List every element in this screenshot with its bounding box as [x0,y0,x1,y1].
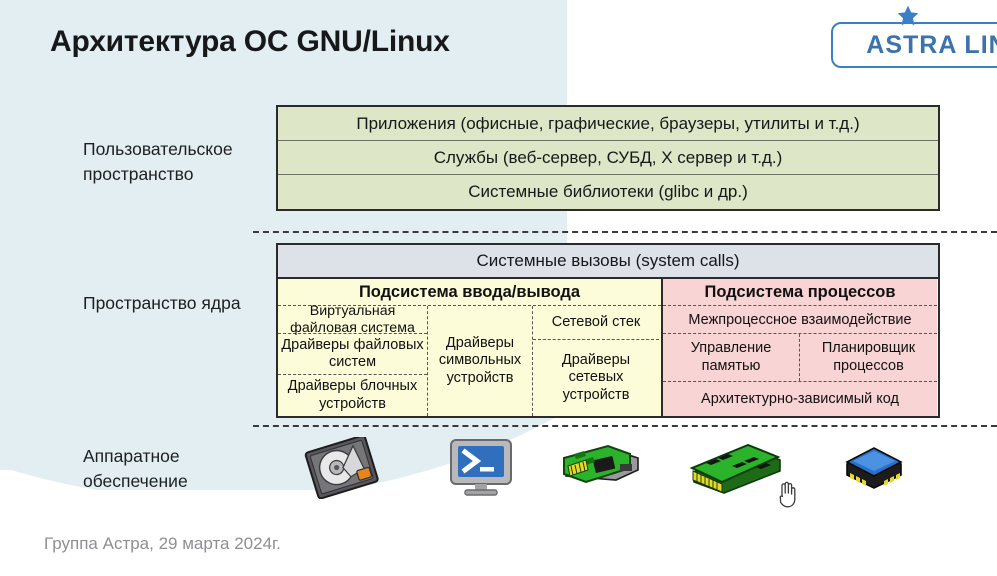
page-title: Архитектура ОС GNU/Linux [50,25,450,59]
io-cell-network-stack: Сетевой стек [533,306,659,340]
io-cell-fs-drivers: Драйверы файловых систем [278,334,427,375]
divider-userspace-kernelspace [253,231,997,233]
label-userspace: Пользовательское пространство [83,137,273,187]
background-left-strip [0,0,170,470]
process-cell-ipc: Межпроцессное взаимодействие [663,306,937,334]
io-subsystem: Подсистема ввода/вывода Виртуальная файл… [278,279,663,416]
process-subsystem: Подсистема процессов Межпроцессное взаим… [663,279,937,416]
userspace-block: Приложения (офисные, графические, браузе… [276,105,940,211]
io-column-network: Сетевой стек Драйверы сетевых устройств [533,306,659,416]
io-column-filesystem: Виртуальная файловая система Драйверы фа… [278,306,428,416]
hand-cursor [776,478,800,508]
monitor-terminal-icon [447,437,515,497]
divider-kernelspace-hardware [253,425,997,427]
process-subsystem-header: Подсистема процессов [663,279,937,306]
io-cell-char-drivers: Драйверы символьных устройств [428,306,532,416]
process-cell-arch-code: Архитектурно-зависимый код [663,382,937,416]
label-hardware: Аппаратное обеспечение [83,444,273,494]
cpu-chip-icon [843,442,905,494]
process-cell-memory: Управление памятью [663,334,800,381]
memory-module-icon [688,444,784,496]
footer-text: Группа Астра, 29 марта 2024г. [44,534,281,554]
network-card-icon [560,444,644,496]
background-white-bottom [0,490,997,576]
system-calls-row: Системные вызовы (system calls) [278,245,938,279]
kernelspace-block: Системные вызовы (system calls) Подсисте… [276,243,940,418]
label-kernelspace: Пространство ядра [83,291,273,316]
userspace-row-services: Службы (веб-сервер, СУБД, X сервер и т.д… [278,141,938,175]
hard-disk-icon [303,437,381,499]
process-middle-row: Управление памятью Планировщик процессов [663,334,937,382]
io-cell-vfs: Виртуальная файловая система [278,306,427,334]
star-icon [895,4,921,30]
userspace-row-applications: Приложения (офисные, графические, браузе… [278,107,938,141]
io-subsystem-grid: Виртуальная файловая система Драйверы фа… [278,306,661,416]
io-cell-network-drivers: Драйверы сетевых устройств [533,340,659,416]
io-column-char: Драйверы символьных устройств [428,306,533,416]
userspace-row-libraries: Системные библиотеки (glibc и др.) [278,175,938,209]
io-cell-block-drivers: Драйверы блочных устройств [278,375,427,416]
kernel-subsystems: Подсистема ввода/вывода Виртуальная файл… [278,279,938,416]
process-cell-scheduler: Планировщик процессов [800,334,937,381]
astra-logo-text: ASTRA LIN [866,31,997,60]
